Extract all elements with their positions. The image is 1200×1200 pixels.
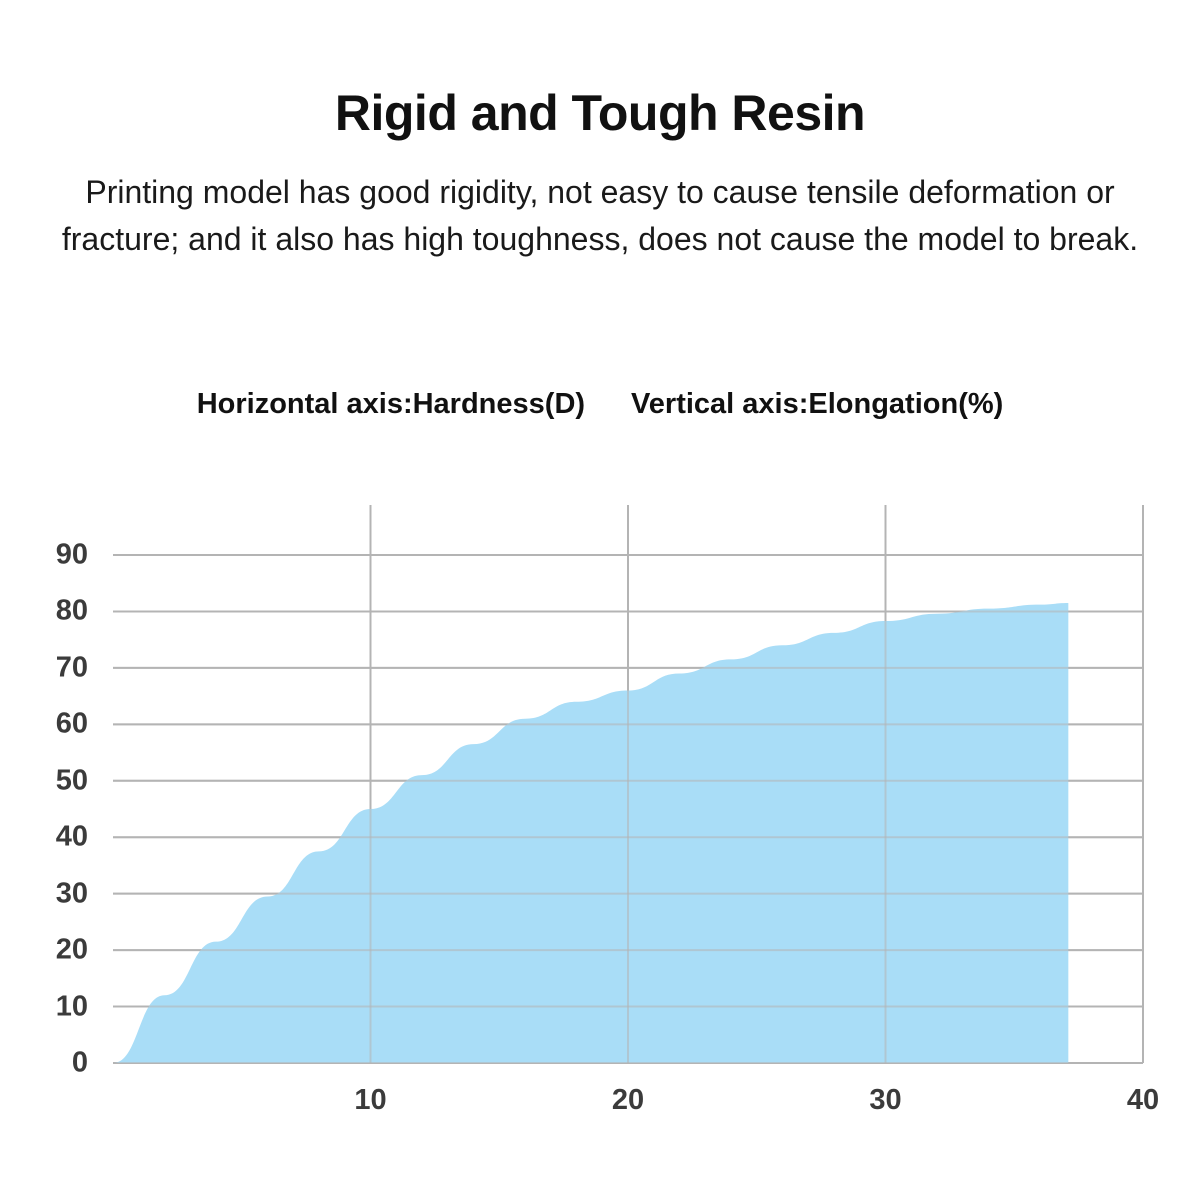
infographic-page: Rigid and Tough Resin Printing model has… <box>0 0 1200 1200</box>
chart-area: 0102030405060708090 10203040 <box>0 0 1200 1200</box>
area-series-path <box>113 603 1068 1063</box>
elongation-hardness-area-chart <box>0 0 1200 1200</box>
